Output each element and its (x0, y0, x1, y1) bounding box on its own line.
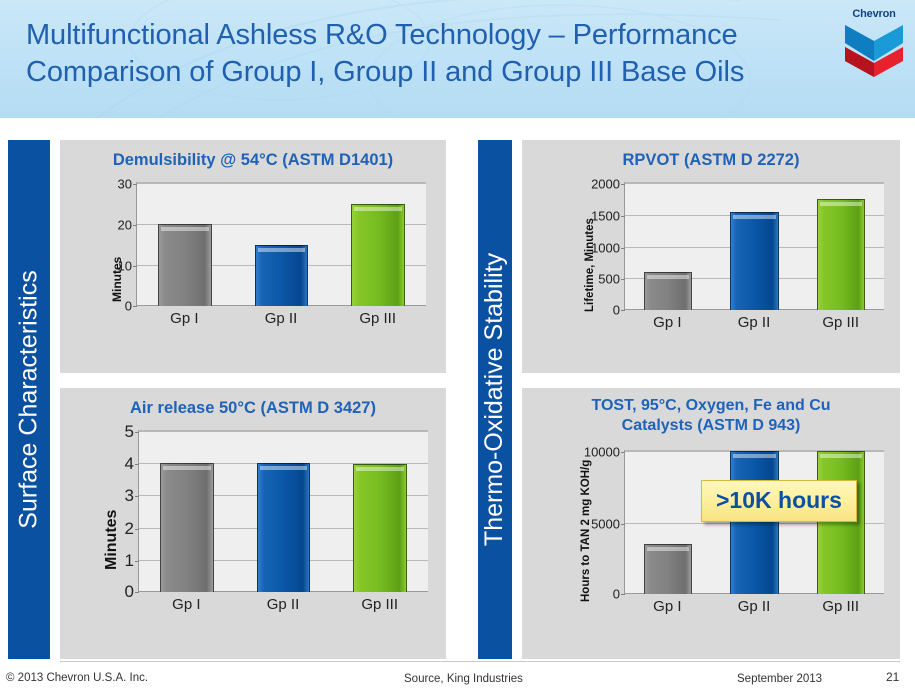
bar-slot (711, 451, 797, 594)
bar-gp-ii (255, 245, 309, 307)
x-tick-label: Gp III (331, 592, 428, 616)
plot-box-air-release: 5 4 3 2 1 0 (138, 430, 428, 592)
x-tick-label: Gp II (711, 310, 798, 334)
chart-title-tost: TOST, 95°C, Oxygen, Fe and Cu Catalysts … (522, 388, 900, 436)
bar-gp-i (644, 272, 692, 310)
x-tick-label: Gp III (797, 310, 884, 334)
y-tick-label: 0 (125, 299, 132, 314)
bar-gp-ii (730, 451, 778, 594)
footer-copyright: © 2013 Chevron U.S.A. Inc. (6, 672, 148, 684)
chevron-hallmark-icon (843, 21, 905, 79)
bar-group-tost (625, 451, 884, 594)
y-tick-label: 0 (613, 303, 620, 318)
bar-group-rpvot (625, 183, 884, 310)
x-tick-label: Gp III (329, 306, 426, 330)
bar-gp-i (644, 544, 692, 594)
band-right-label: Thermo-Oxidative Stability (481, 253, 510, 546)
plot-area-air-release: Minutes 5 4 3 2 1 0 Gp I Gp II Gp III (98, 430, 428, 616)
plot-box-tost: 10000 5000 0 (624, 450, 884, 594)
y-tick-label: 1000 (591, 240, 620, 255)
chart-title-demulsibility: Demulsibility @ 54°C (ASTM D1401) (60, 140, 446, 170)
y-tick-label: 2 (125, 519, 134, 539)
bar-slot (798, 451, 884, 594)
plot-area-rpvot: Lifetime, Minutes 2000 1500 1000 500 0 G… (584, 182, 884, 334)
footer-source: Source, King Industries (404, 673, 523, 685)
bar-gp-i (160, 463, 214, 592)
bar-gp-i (158, 224, 212, 306)
bar-gp-iii (817, 199, 865, 310)
page-title: Multifunctional Ashless R&O Technology –… (26, 17, 826, 91)
category-band-thermo-oxidative-stability: Thermo-Oxidative Stability (478, 140, 512, 659)
chart-panel-demulsibility: Demulsibility @ 54°C (ASTM D1401) Minute… (60, 140, 446, 373)
x-axis-rpvot: Gp I Gp II Gp III (624, 310, 884, 334)
bar-slot (137, 183, 233, 306)
bar-gp-ii (730, 212, 778, 310)
chart-panel-air-release: Air release 50°C (ASTM D 3427) Minutes 5… (60, 388, 446, 659)
chevron-logo-wordmark: Chevron (843, 8, 905, 20)
y-tick-label: 1 (125, 551, 134, 571)
chart-title-rpvot: RPVOT (ASTM D 2272) (522, 140, 900, 170)
y-axis-title-rpvot: Lifetime, Minutes (584, 218, 596, 312)
bar-slot (711, 183, 797, 310)
bar-gp-ii (257, 463, 311, 592)
chart-title-tost-line1: TOST, 95°C, Oxygen, Fe and Cu (522, 396, 900, 416)
chart-title-air-release: Air release 50°C (ASTM D 3427) (60, 388, 446, 418)
bar-gp-iii (351, 204, 405, 306)
x-tick-label: Gp I (138, 592, 235, 616)
y-tick-label: 0 (125, 582, 134, 602)
x-axis-demulsibility: Gp I Gp II Gp III (136, 306, 426, 330)
x-tick-label: Gp II (235, 592, 332, 616)
bar-gp-iii (817, 451, 865, 594)
y-tick-label: 10000 (584, 445, 620, 460)
y-tick-label: 10 (118, 258, 132, 273)
x-tick-label: Gp III (797, 594, 884, 618)
bar-slot (233, 183, 329, 306)
y-axis-title-air-release: Minutes (103, 510, 121, 570)
y-tick-label: 3 (125, 486, 134, 506)
bar-slot (625, 451, 711, 594)
chevron-logo: Chevron (843, 8, 905, 82)
band-left-label: Surface Characteristics (15, 270, 44, 528)
x-tick-label: Gp I (136, 306, 233, 330)
y-tick-label: 5000 (591, 516, 620, 531)
bar-slot (330, 183, 426, 306)
chart-title-tost-line2: Catalysts (ASTM D 943) (522, 416, 900, 436)
bar-group-demulsibility (137, 183, 426, 306)
bar-slot (798, 183, 884, 310)
x-axis-tost: Gp I Gp II Gp III (624, 594, 884, 618)
plot-area-demulsibility: Minutes 30 20 10 0 Gp I Gp II Gp III (96, 182, 426, 330)
bar-slot (332, 431, 428, 592)
chart-panel-rpvot: RPVOT (ASTM D 2272) Lifetime, Minutes 20… (522, 140, 900, 373)
plot-area-tost: Hours to TAN 2 mg KOH/g 10000 5000 0 Gp … (584, 450, 884, 618)
y-tick-label: 1500 (591, 208, 620, 223)
footer-divider (60, 661, 900, 662)
x-tick-label: Gp II (233, 306, 330, 330)
plot-box-demulsibility: 30 20 10 0 (136, 182, 426, 306)
y-tick-label: 30 (118, 177, 132, 192)
bar-group-air-release (139, 431, 428, 592)
x-tick-label: Gp I (624, 594, 711, 618)
y-tick-label: 4 (125, 454, 134, 474)
x-tick-label: Gp II (711, 594, 798, 618)
y-tick-label: 500 (598, 272, 620, 287)
bar-slot (139, 431, 235, 592)
bar-slot (235, 431, 331, 592)
footer-page-number: 21 (886, 670, 899, 684)
y-tick-label: 5 (125, 422, 134, 442)
chart-panel-tost: TOST, 95°C, Oxygen, Fe and Cu Catalysts … (522, 388, 900, 659)
plot-box-rpvot: 2000 1500 1000 500 0 (624, 182, 884, 310)
x-tick-label: Gp I (624, 310, 711, 334)
x-axis-air-release: Gp I Gp II Gp III (138, 592, 428, 616)
bar-slot (625, 183, 711, 310)
slide-header: Multifunctional Ashless R&O Technology –… (0, 0, 915, 118)
category-band-surface-characteristics: Surface Characteristics (8, 140, 50, 659)
y-tick-label: 2000 (591, 177, 620, 192)
bar-gp-iii (353, 464, 407, 592)
callout-badge-10k-hours: >10K hours (701, 480, 857, 522)
y-tick-label: 0 (613, 587, 620, 602)
y-tick-label: 20 (118, 217, 132, 232)
footer-date: September 2013 (737, 673, 822, 685)
